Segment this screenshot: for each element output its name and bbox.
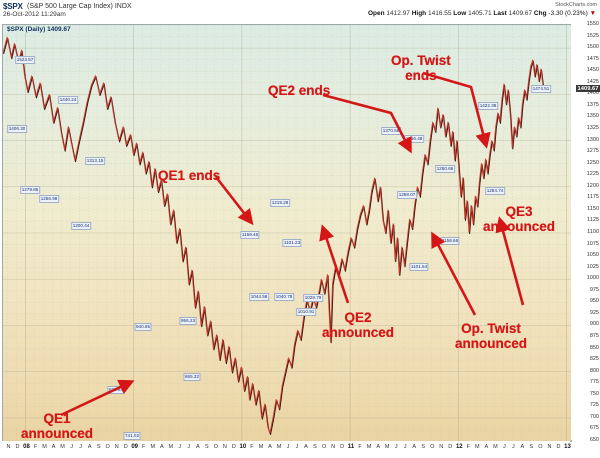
last-value: 1409.67 [509,10,533,17]
price-axis-tick: 1000 [587,275,599,281]
price-axis-tick: 1075 [587,241,599,247]
price-label: 940.95 [134,323,151,331]
date-axis-month: S [313,444,317,450]
date-axis-month: J [178,444,181,450]
price-axis-tick: 1100 [587,229,599,235]
price-axis-tick: 1200 [587,183,599,189]
high-value: 1416.55 [428,10,452,17]
price-axis-tick: 725 [590,402,599,408]
price-label: 1040.78 [274,293,294,301]
annotation-line: QE2 [322,310,394,325]
date-axis-month: M [151,444,156,450]
price-label: 741.02 [123,432,140,440]
price-label: 1101.54 [409,263,428,271]
date-axis-year: 11 [348,444,354,450]
price-axis-tick: 1225 [587,171,599,177]
date-axis-year: 09 [131,444,138,450]
date-axis-month: S [205,444,209,450]
date-axis-month: M [60,444,65,450]
date-axis-month: A [88,444,92,450]
price-label: 1313.15 [85,157,105,165]
date-axis-month: M [42,444,47,450]
price-axis: 1550152515001475145014251400137513501325… [571,24,600,440]
price-axis-tick: 675 [590,425,599,431]
date-axis-month: F [250,444,253,450]
last-label: Last [493,10,506,17]
date-axis-month: N [223,444,227,450]
date-axis-month: O [430,444,434,450]
annotation-line: QE1 ends [158,168,220,183]
annotation-op-twist-ends: Op. Twistends [391,53,451,83]
date-axis-month: J [296,444,299,450]
date-axis-month: D [232,444,236,450]
down-triangle-icon: ▼ [590,10,596,17]
low-value: 1405.71 [468,10,492,17]
annotation-line: announced [21,426,93,441]
price-axis-tick: 1375 [587,102,599,108]
price-label: 1159.46 [240,231,259,239]
price-label: 1256.98 [39,195,59,203]
chg-label: Chg [534,10,547,17]
low-label: Low [453,10,466,17]
price-label: 1200.44 [71,222,91,230]
price-axis-tick: 825 [590,356,599,362]
date-axis-month: M [277,444,282,450]
price-label: 1370.58 [381,127,401,135]
price-axis-tick: 650 [590,437,599,443]
date-axis-month: M [367,444,372,450]
date-axis-year: 08 [23,444,30,450]
annotation-op-twist-announced: Op. Twistannounced [455,321,527,351]
high-label: High [412,10,426,17]
price-axis-tick: 950 [590,298,599,304]
annotation-qe2-announced: QE2announced [322,310,394,340]
date-axis-month: S [97,444,101,450]
date-axis-month: D [448,444,452,450]
price-label: 1284.74 [485,187,505,195]
price-axis-tick: 1175 [587,194,599,200]
annotation-line: QE2 ends [268,83,330,98]
date-axis-month: J [70,444,73,450]
annotation-line: announced [483,219,555,234]
price-axis-tick: 1350 [587,113,599,119]
annotation-line: announced [455,336,527,351]
date-axis-month: F [34,444,37,450]
date-axis-year: 13 [564,444,571,450]
date-axis-month: A [412,444,416,450]
price-axis-tick: 1150 [587,206,599,212]
price-label: 1258.07 [397,191,417,199]
date-axis-month: F [358,444,361,450]
price-axis-tick: 875 [590,333,599,339]
price-label: 1029.79 [303,294,323,302]
price-axis-tick: 900 [590,321,599,327]
date-axis-month: J [503,444,506,450]
price-axis-tick: 1300 [587,137,599,143]
price-axis-tick: 925 [590,310,599,316]
date-axis-month: F [467,444,470,450]
date-axis-month: S [530,444,534,450]
price-label: 1523.57 [15,56,35,64]
date-axis-month: N [7,444,11,450]
price-axis-tick: 1475 [587,56,599,62]
price-axis-tick: 750 [590,391,599,397]
price-axis-tick: 1550 [587,21,599,27]
quote-timestamp: 26-Oct-2012 11:29am [3,11,66,18]
date-axis-month: J [395,444,398,450]
series-legend: $SPX (Daily) 1409.67 [6,26,72,33]
date-axis-month: A [52,444,56,450]
price-label: 1406.30 [7,125,27,133]
price-axis-tick: 1425 [587,79,599,85]
ohlc-quote-bar: Open 1412.97 High 1416.55 Low 1405.71 La… [368,10,596,17]
date-axis-month: D [340,444,344,450]
date-axis-month: N [331,444,335,450]
price-axis-tick: 1500 [587,44,599,50]
stockcharts-credit: StockCharts.com [555,2,597,8]
chart-header: $SPX (S&P 500 Large Cap Index) INDX 26-O… [0,0,600,24]
annotation-line: Op. Twist [391,53,451,68]
date-axis-month: O [322,444,326,450]
date-axis-month: S [421,444,425,450]
annotation-line: Op. Twist [455,321,527,336]
price-axis-tick: 800 [590,368,599,374]
price-label: 1279.85 [20,186,40,194]
price-label: 1044.58 [249,293,269,301]
date-axis-month: A [376,444,380,450]
symbol-description: (S&P 500 Large Cap Index) INDX [27,3,132,10]
annotation-line: QE1 [21,411,93,426]
last-price-tag: 1409.67 [576,85,600,92]
date-axis-month: N [115,444,119,450]
date-axis-month: J [79,444,82,450]
date-axis-month: M [169,444,174,450]
date-axis-month: J [512,444,515,450]
date-axis-month: M [475,444,480,450]
price-plot-area[interactable]: $SPX (Daily) 1409.67 1523.571406.301440.… [2,24,572,442]
price-axis-tick: 1325 [587,125,599,131]
date-axis-month: A [268,444,272,450]
price-axis-tick: 700 [590,414,599,420]
date-axis-month: M [259,444,264,450]
date-axis-month: A [484,444,488,450]
price-axis-tick: 1275 [587,148,599,154]
date-axis-month: F [142,444,145,450]
date-axis-month: A [160,444,164,450]
price-label: 1010.91 [296,308,316,316]
date-axis-month: D [557,444,561,450]
price-label: 1158.66 [440,237,459,245]
symbol-ticker: $SPX [3,2,23,11]
date-axis: ND08FMAMJJASOND09FMAMJJASOND10FMAMJJASON… [2,441,570,456]
price-label: 1356.48 [404,135,424,143]
price-label: 1440.24 [58,96,78,104]
price-label: 1250.66 [435,165,455,173]
date-axis-month: O [214,444,218,450]
date-axis-month: J [404,444,407,450]
date-axis-year: 10 [240,444,247,450]
price-axis-tick: 1450 [587,67,599,73]
open-value: 1412.97 [386,10,410,17]
price-axis-tick: 1525 [587,33,599,39]
date-axis-month: O [538,444,542,450]
price-axis-tick: 1025 [587,264,599,270]
price-label: 1101.23 [282,239,301,247]
price-axis-tick: 775 [590,379,599,385]
date-axis-month: M [493,444,498,450]
stockcharts-screenshot: $SPX (S&P 500 Large Cap Index) INDX 26-O… [0,0,600,458]
date-axis-month: O [106,444,110,450]
date-axis-month: A [304,444,308,450]
price-label: 1219.28 [270,199,290,207]
date-axis-month: N [439,444,443,450]
annotation-qe1-ends: QE1 ends [158,168,220,183]
annotation-qe3-announced: QE3announced [483,204,555,234]
date-axis-month: J [187,444,190,450]
date-axis-year: 12 [456,444,463,450]
date-axis-month: A [196,444,200,450]
price-label: 865.32 [183,373,200,381]
annotation-line: announced [322,325,394,340]
open-label: Open [368,10,385,17]
chg-value: -3.30 (0.23%) [548,10,587,17]
date-axis-month: N [548,444,552,450]
date-axis-month: D [124,444,128,450]
price-axis-tick: 1125 [587,217,599,223]
price-axis-tick: 1050 [587,252,599,258]
price-axis-tick: 850 [590,345,599,351]
annotation-line: ends [391,68,451,83]
price-label: 1422.38 [478,102,498,110]
price-label: 956.23 [179,317,196,325]
date-axis-month: M [385,444,390,450]
price-label: 826.84 [107,386,124,394]
price-label: 1474.51 [531,85,551,93]
date-axis-month: A [521,444,525,450]
date-axis-month: D [16,444,20,450]
annotation-line: QE3 [483,204,555,219]
price-axis-tick: 975 [590,287,599,293]
annotation-qe2-ends: QE2 ends [268,83,330,98]
date-axis-month: J [287,444,290,450]
price-axis-tick: 1250 [587,160,599,166]
annotation-qe1-announced: QE1announced [21,411,93,441]
